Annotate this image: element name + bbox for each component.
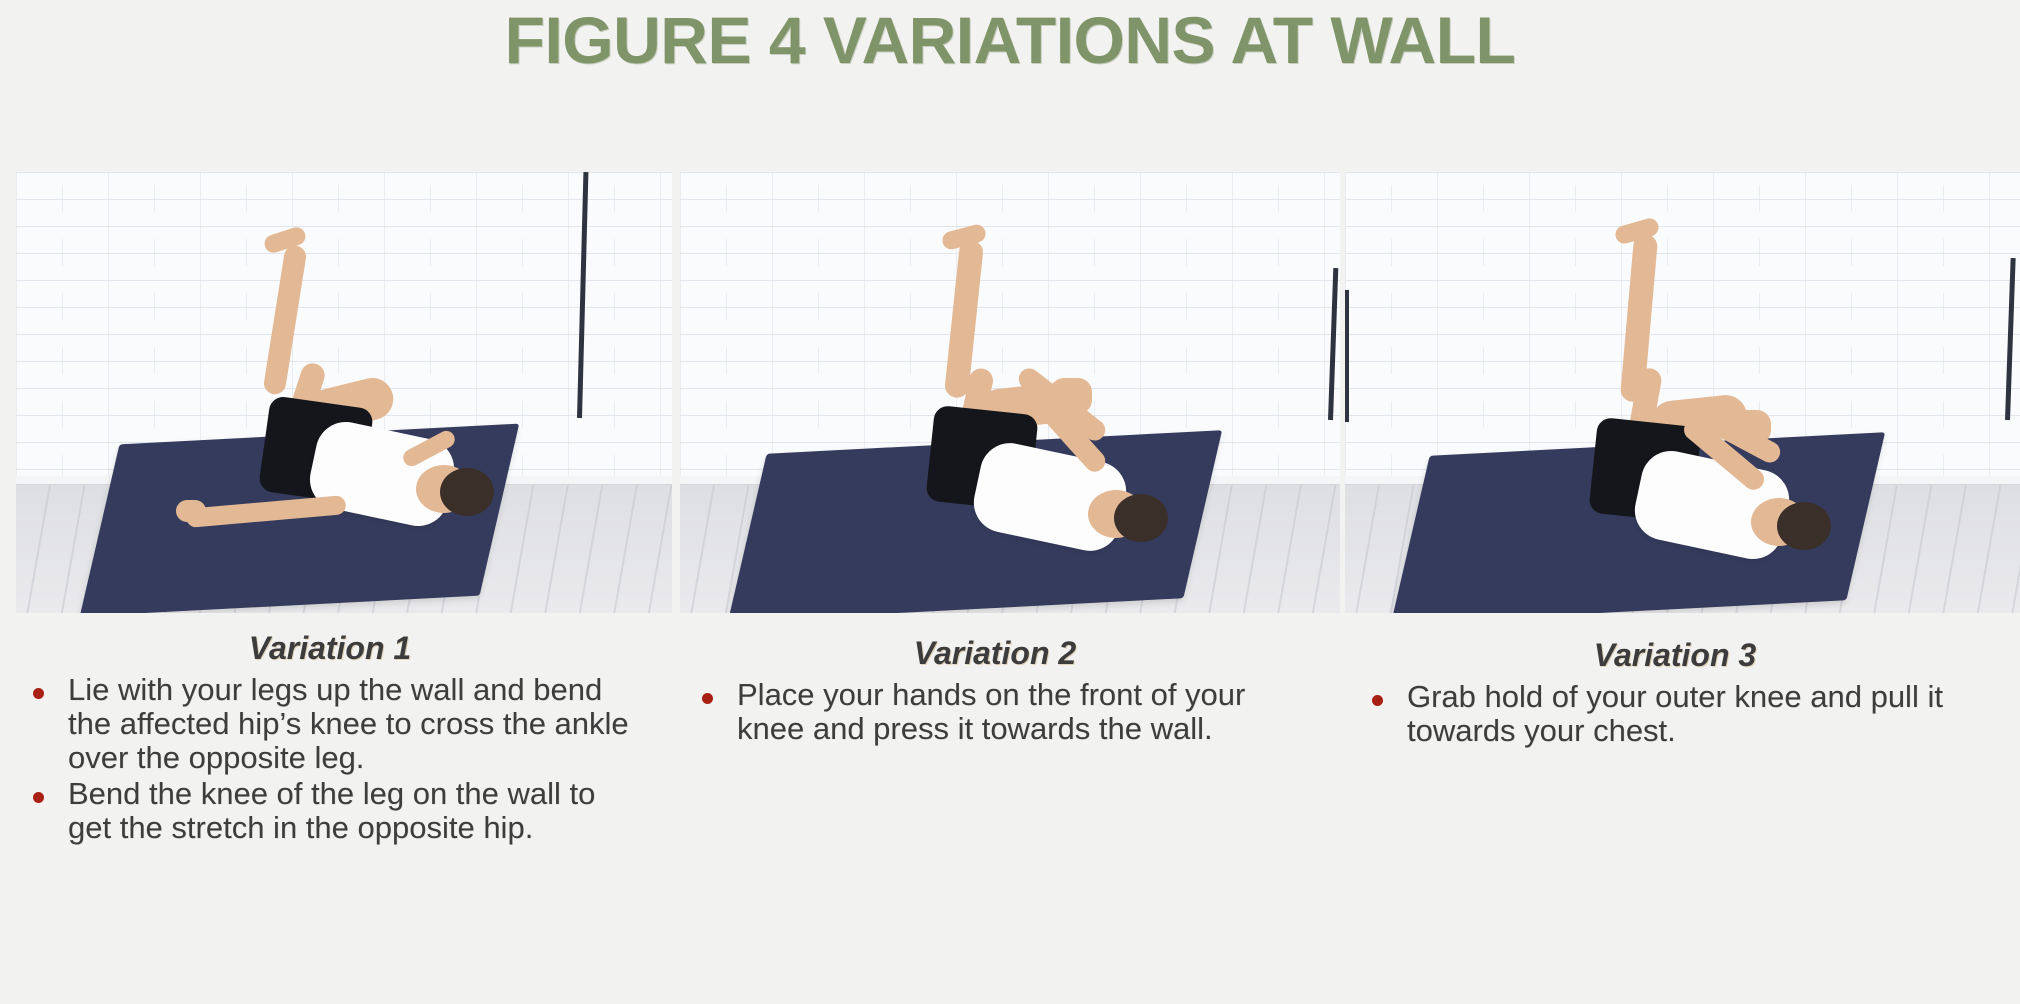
hands-icon xyxy=(1727,410,1771,444)
list-item: Grab hold of your outer knee and pull it… xyxy=(1372,680,1992,748)
list-item: Bend the knee of the leg on the wall to … xyxy=(33,777,640,845)
page-title: FIGURE 4 VARIATIONS AT WALL xyxy=(0,2,2020,78)
variation-3-caption: Variation 3 Grab hold of your outer knee… xyxy=(1330,613,2020,750)
variation-2-bullet-list: Place your hands on the front of your kn… xyxy=(660,678,1330,746)
variation-2-caption: Variation 2 Place your hands on the fron… xyxy=(660,613,1330,748)
hands-icon xyxy=(1050,378,1092,414)
variation-1-heading: Variation 1 xyxy=(0,630,660,667)
hair-icon xyxy=(440,468,494,516)
variation-3-heading: Variation 3 xyxy=(1330,637,2020,674)
hair-icon xyxy=(1114,494,1168,542)
list-item: Place your hands on the front of your kn… xyxy=(702,678,1298,746)
hair-icon xyxy=(1777,502,1831,550)
variation-3-bullet-list: Grab hold of your outer knee and pull it… xyxy=(1330,680,2020,748)
list-item: Lie with your legs up the wall and bend … xyxy=(33,673,640,775)
variation-1-photo xyxy=(16,172,672,613)
gym-scene-2 xyxy=(680,172,1340,613)
variation-2-heading: Variation 2 xyxy=(660,635,1330,672)
variation-2-photo xyxy=(680,172,1340,613)
gym-scene-3 xyxy=(1345,172,2020,613)
slide-canvas: FIGURE 4 VARIATIONS AT WALL xyxy=(0,0,2020,1004)
photo-strip xyxy=(16,172,2020,613)
gym-scene-1 xyxy=(16,172,672,613)
hand-icon xyxy=(176,500,206,522)
variation-1-bullet-list: Lie with your legs up the wall and bend … xyxy=(0,673,660,845)
variation-1-caption: Variation 1 Lie with your legs up the wa… xyxy=(0,613,660,847)
wall-corner-icon xyxy=(1345,290,1349,422)
caption-row: Variation 1 Lie with your legs up the wa… xyxy=(0,613,2020,1004)
variation-3-photo xyxy=(1345,172,2020,613)
